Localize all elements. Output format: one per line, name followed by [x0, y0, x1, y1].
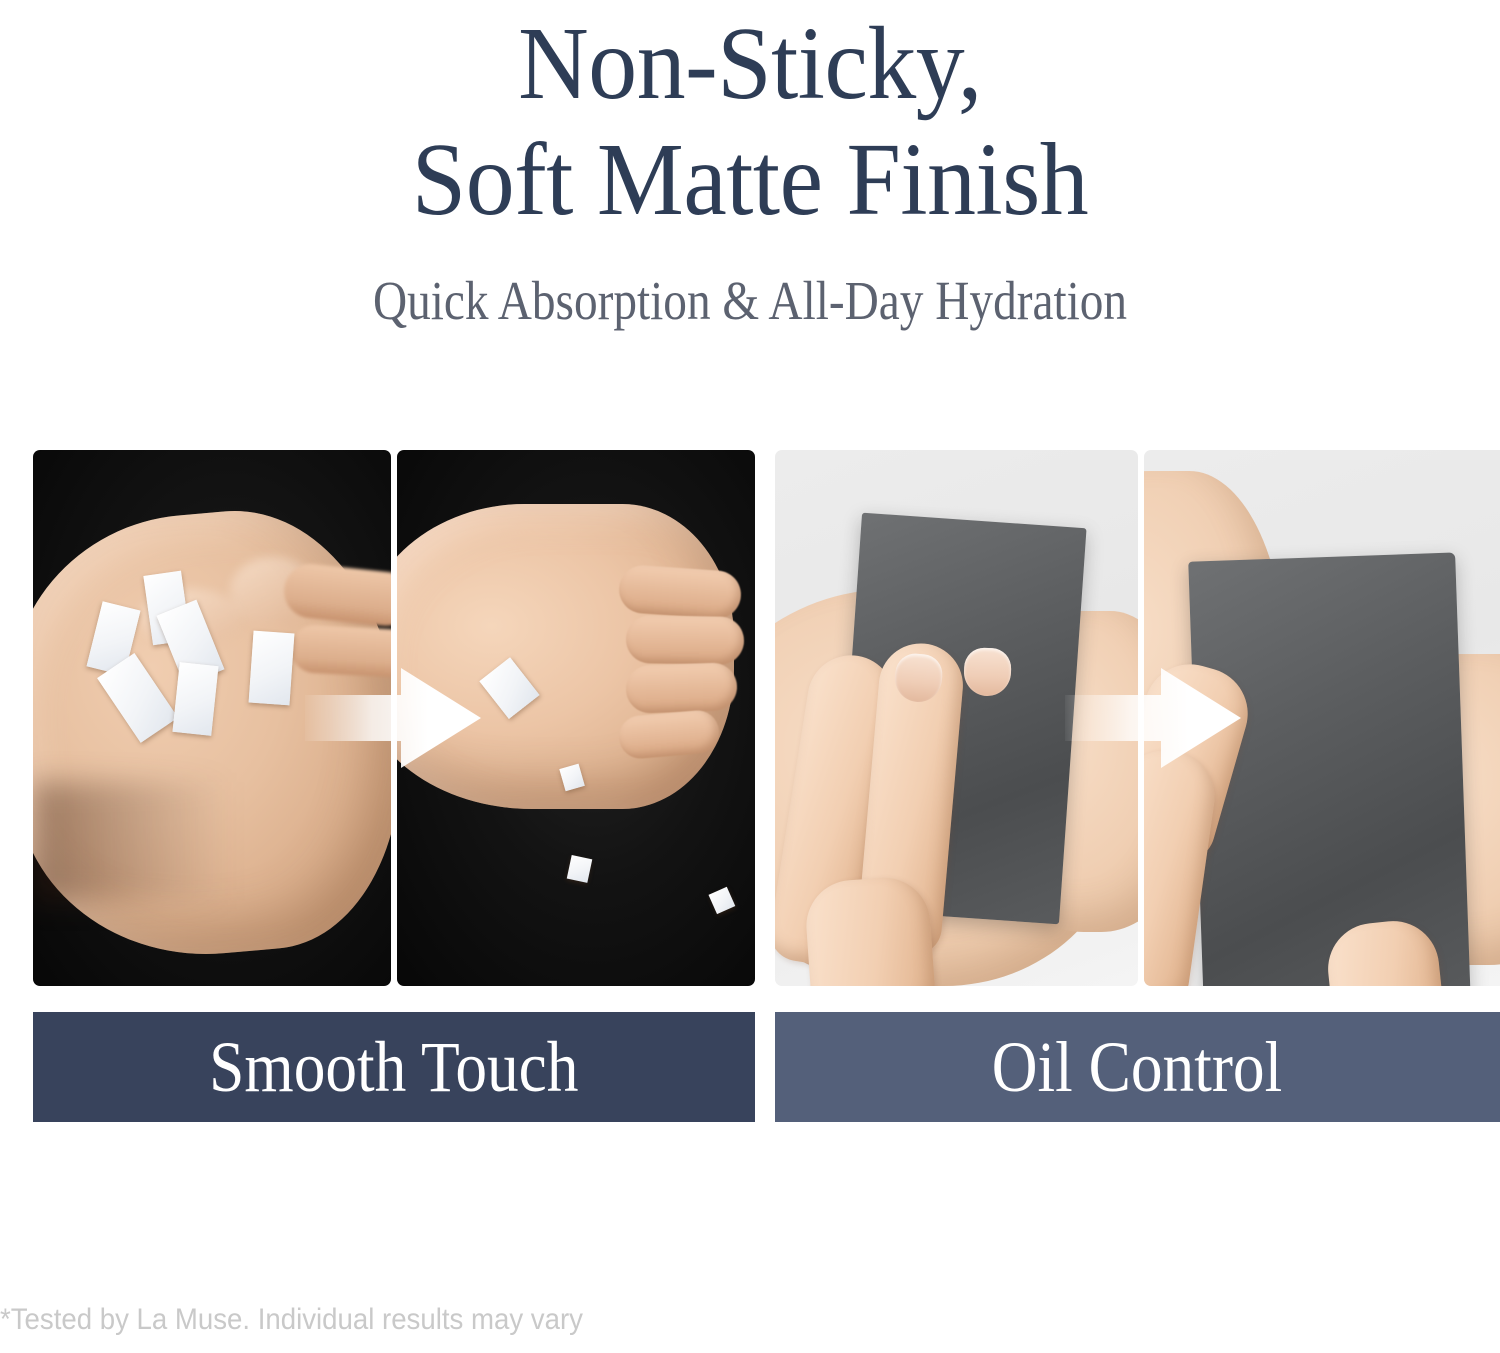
knuckle-shape	[625, 662, 738, 714]
finger-shape	[290, 624, 391, 679]
caption-bar-oil-control: Oil Control	[775, 1012, 1500, 1122]
header: Non-Sticky, Soft Matte Finish Quick Abso…	[0, 0, 1500, 331]
photo-row-oil-control	[775, 450, 1500, 986]
headline-line-2: Soft Matte Finish	[45, 122, 1455, 238]
photo-smooth-touch-after	[397, 450, 755, 986]
caption-label-oil-control: Oil Control	[992, 1031, 1282, 1103]
paper-square	[173, 663, 219, 736]
finger-shape	[803, 875, 936, 986]
knuckle-shape	[617, 564, 742, 621]
photo-row-smooth-touch	[33, 450, 755, 986]
page-title: Non-Sticky, Soft Matte Finish	[45, 0, 1455, 239]
photo-smooth-touch-before	[33, 450, 391, 986]
photo-oil-control-after	[1144, 450, 1500, 986]
knuckle-shape	[626, 615, 745, 665]
caption-bar-smooth-touch: Smooth Touch	[33, 1012, 755, 1122]
photo-oil-control-before	[775, 450, 1138, 986]
footnote-disclaimer: *Tested by La Muse. Individual results m…	[0, 1302, 583, 1338]
caption-bars: Smooth Touch Oil Control	[0, 1012, 1500, 1122]
page-subtitle: Quick Absorption & All-Day Hydration	[105, 239, 1395, 332]
caption-label-smooth-touch: Smooth Touch	[209, 1031, 578, 1103]
paper-square	[249, 631, 295, 706]
wrist-shadow	[33, 782, 230, 900]
headline-line-1: Non-Sticky,	[45, 6, 1455, 122]
